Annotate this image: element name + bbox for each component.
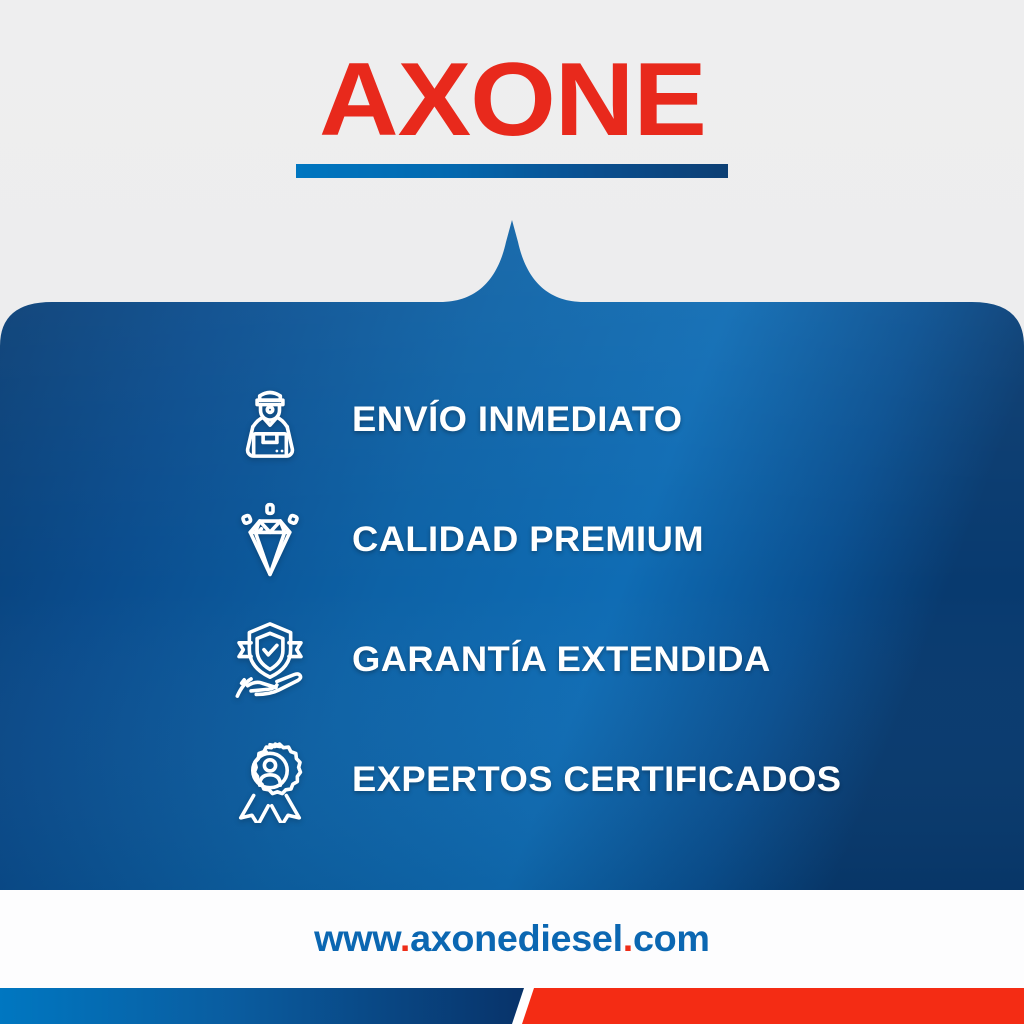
feature-label-expertos-certificados: EXPERTOS CERTIFICADOS bbox=[352, 760, 841, 800]
feature-label-calidad-premium: CALIDAD PREMIUM bbox=[352, 520, 704, 560]
footer-url-band: www.axonediesel.com bbox=[0, 890, 1024, 988]
feature-item-garantia-extendida[interactable]: GARANTÍA EXTENDIDA bbox=[0, 600, 1024, 720]
website-url[interactable]: www.axonediesel.com bbox=[314, 918, 710, 960]
bottom-accent-bar bbox=[0, 988, 1024, 1024]
shield-check-hand-icon bbox=[222, 612, 318, 708]
url-dot-1: . bbox=[400, 918, 410, 959]
feature-label-garantia-extendida: GARANTÍA EXTENDIDA bbox=[352, 640, 771, 680]
bottom-accent-bar-shape bbox=[0, 988, 1024, 1024]
brand-underline-rule bbox=[296, 164, 728, 178]
diamond-sparkle-icon bbox=[222, 492, 318, 588]
delivery-person-box-icon bbox=[222, 372, 318, 468]
url-dot-2: . bbox=[623, 918, 633, 959]
url-part-domain: axonediesel bbox=[410, 918, 623, 959]
feature-item-calidad-premium[interactable]: CALIDAD PREMIUM bbox=[0, 480, 1024, 600]
brand-wordmark: AXONE bbox=[319, 48, 706, 152]
url-part-tld: com bbox=[633, 918, 710, 959]
award-ribbon-person-icon bbox=[222, 732, 318, 828]
feature-item-envio-inmediato[interactable]: ENVÍO INMEDIATO bbox=[0, 360, 1024, 480]
brand-header: AXONE bbox=[0, 48, 1024, 152]
feature-label-envio-inmediato: ENVÍO INMEDIATO bbox=[352, 400, 683, 440]
url-part-www: www bbox=[314, 918, 400, 959]
promo-poster: AXONE bbox=[0, 0, 1024, 1024]
feature-list: ENVÍO INMEDIATO bbox=[0, 360, 1024, 840]
feature-item-expertos-certificados[interactable]: EXPERTOS CERTIFICADOS bbox=[0, 720, 1024, 840]
